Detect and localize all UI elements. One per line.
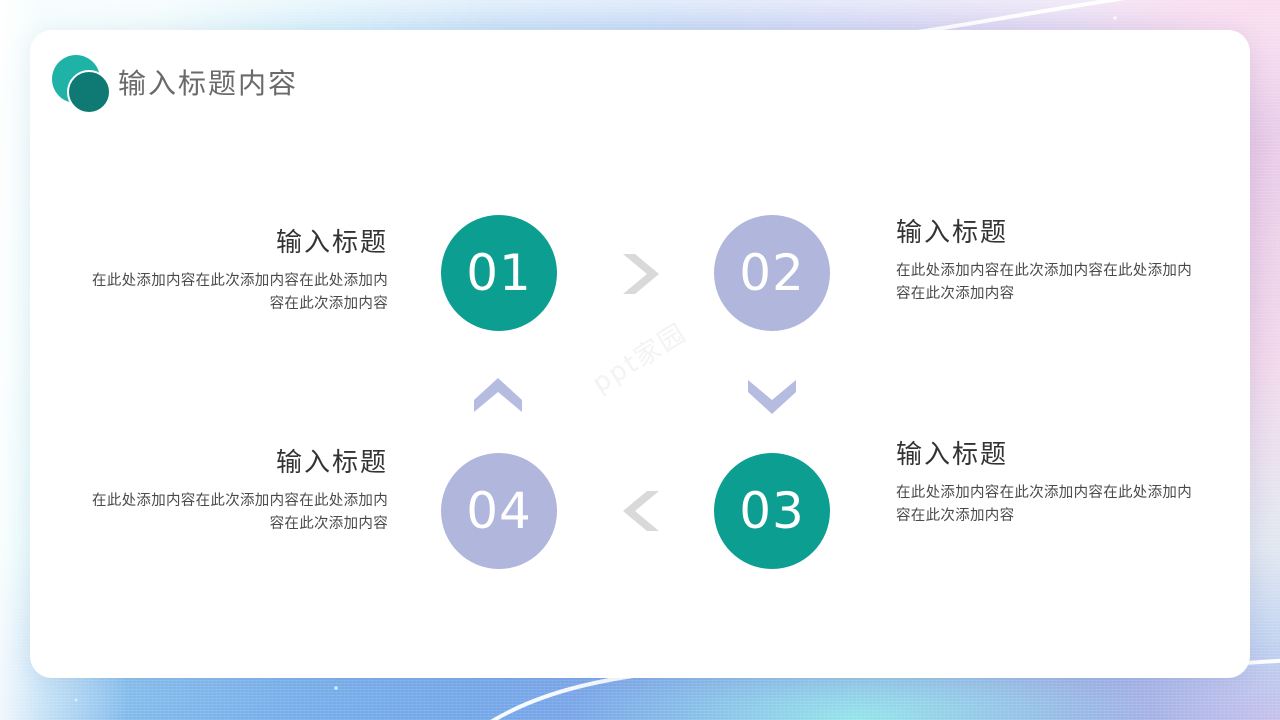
chevron-down-icon xyxy=(742,370,802,422)
item-heading-02: 输入标题 xyxy=(896,216,1196,249)
chevron-left-icon xyxy=(615,485,667,537)
cycle-diagram: ppt家园 输入标题 在此处添加内容在此次添加内容在此处添加内容在此次添加内容 … xyxy=(30,30,1250,678)
step-circle-01[interactable]: 01 xyxy=(441,215,557,331)
step-circle-03[interactable]: 03 xyxy=(714,453,830,569)
item-text-02: 输入标题 在此处添加内容在此次添加内容在此处添加内容在此次添加内容 xyxy=(896,216,1196,306)
item-body-01: 在此处添加内容在此次添加内容在此处添加内容在此次添加内容 xyxy=(88,270,388,317)
item-text-01: 输入标题 在此处添加内容在此次添加内容在此处添加内容在此次添加内容 xyxy=(88,226,388,316)
item-body-03: 在此处添加内容在此次添加内容在此处添加内容在此次添加内容 xyxy=(896,482,1196,529)
content-card: 输入标题内容 ppt家园 输入标题 在此处添加内容在此次添加内容在此处添加内容在… xyxy=(30,30,1250,678)
watermark: ppt家园 xyxy=(584,313,693,400)
item-text-03: 输入标题 在此处添加内容在此次添加内容在此处添加内容在此次添加内容 xyxy=(896,438,1196,528)
item-body-02: 在此处添加内容在此次添加内容在此处添加内容在此次添加内容 xyxy=(896,260,1196,307)
item-body-04: 在此处添加内容在此次添加内容在此处添加内容在此次添加内容 xyxy=(88,490,388,537)
step-circle-04[interactable]: 04 xyxy=(441,453,557,569)
item-heading-03: 输入标题 xyxy=(896,438,1196,471)
item-heading-04: 输入标题 xyxy=(88,446,388,479)
chevron-right-icon xyxy=(615,248,667,300)
chevron-up-icon xyxy=(468,370,528,422)
item-text-04: 输入标题 在此处添加内容在此次添加内容在此处添加内容在此次添加内容 xyxy=(88,446,388,536)
step-circle-02[interactable]: 02 xyxy=(714,215,830,331)
item-heading-01: 输入标题 xyxy=(88,226,388,259)
slide: 输入标题内容 ppt家园 输入标题 在此处添加内容在此次添加内容在此处添加内容在… xyxy=(0,0,1280,720)
